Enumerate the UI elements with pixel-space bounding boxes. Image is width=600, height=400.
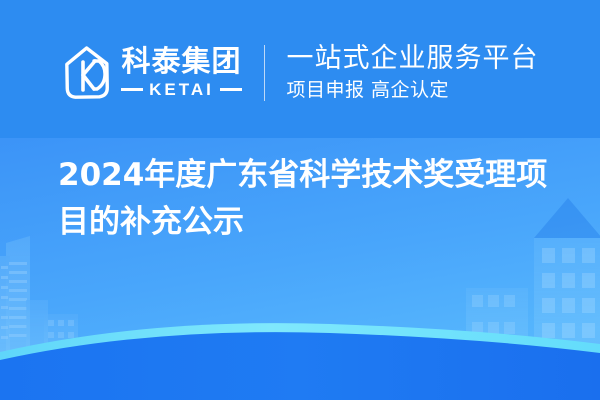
tagline-secondary: 项目申报 高企认定 — [287, 78, 539, 103]
logo-rule-right — [220, 88, 242, 91]
tagline-primary: 一站式企业服务平台 — [287, 44, 539, 74]
banner-header: 科泰集团 KETAI 一站式企业服务平台 项目申报 高企认定 — [0, 0, 600, 138]
announcement-banner: 科泰集团 KETAI 一站式企业服务平台 项目申报 高企认定 2024年度广东省… — [0, 0, 600, 400]
page-title: 2024年度广东省科学技术奖受理项目的补充公示 — [58, 152, 558, 246]
ketai-diamond-kd-logo-icon — [61, 44, 113, 102]
city-skyline-left — [0, 236, 78, 352]
page-title-container: 2024年度广东省科学技术奖受理项目的补充公示 — [58, 152, 558, 246]
logo-company-name-cn: 科泰集团 — [121, 47, 241, 76]
logo-company-name-en: KETAI — [143, 81, 220, 98]
brand-logo[interactable]: 科泰集团 KETAI — [61, 44, 241, 102]
header-divider — [264, 45, 265, 101]
brand-tagline: 一站式企业服务平台 项目申报 高企认定 — [287, 44, 539, 103]
logo-rule-left — [121, 88, 143, 91]
logo-company-name-en-row: KETAI — [121, 81, 241, 98]
